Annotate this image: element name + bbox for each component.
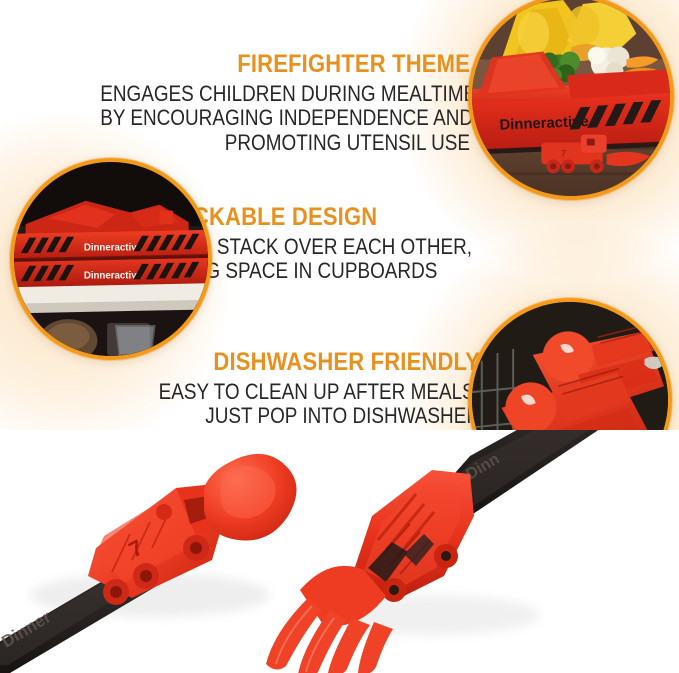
feature-block-firefighter-theme: FIREFIGHTER THEME ENGAGES CHILDREN DURIN… <box>40 52 470 156</box>
photo-circle-tray-with-food: Dinneractive 7 <box>468 0 674 200</box>
photo-tray-with-food: Dinneractive 7 <box>472 0 670 196</box>
stacked-tray-brand-top: Dinneractive <box>84 242 143 253</box>
stacked-tray-brand-bottom: Dinneractive <box>84 270 143 281</box>
feature-body-line: JUST POP INTO DISHWASHER <box>136 404 480 429</box>
feature-block-dishwasher-friendly: DISHWASHER FRIENDLY EASY TO CLEAN UP AFT… <box>80 350 480 429</box>
feature-headline-firefighter-theme: FIREFIGHTER THEME <box>92 52 470 78</box>
photo-circle-stacked-trays: Dinneractive Dinneractive <box>10 158 212 360</box>
photo-stacked-trays: Dinneractive Dinneractive <box>14 162 208 356</box>
feature-body-line: BY ENCOURAGING INDEPENDENCE AND <box>100 106 470 131</box>
product-photo-utensils: Dinner 7 <box>0 430 679 673</box>
feature-headline-dishwasher-friendly: DISHWASHER FRIENDLY <box>128 350 480 376</box>
feature-body-line: EASY TO CLEAN UP AFTER MEALS, <box>136 380 480 405</box>
truck-number: 7 <box>561 148 566 158</box>
feature-body-line: PROMOTING UTENSIL USE <box>100 131 470 156</box>
feature-body-line: ENGAGES CHILDREN DURING MEALTIMES <box>100 82 470 107</box>
infographic-canvas: FIREFIGHTER THEME ENGAGES CHILDREN DURIN… <box>0 0 679 673</box>
